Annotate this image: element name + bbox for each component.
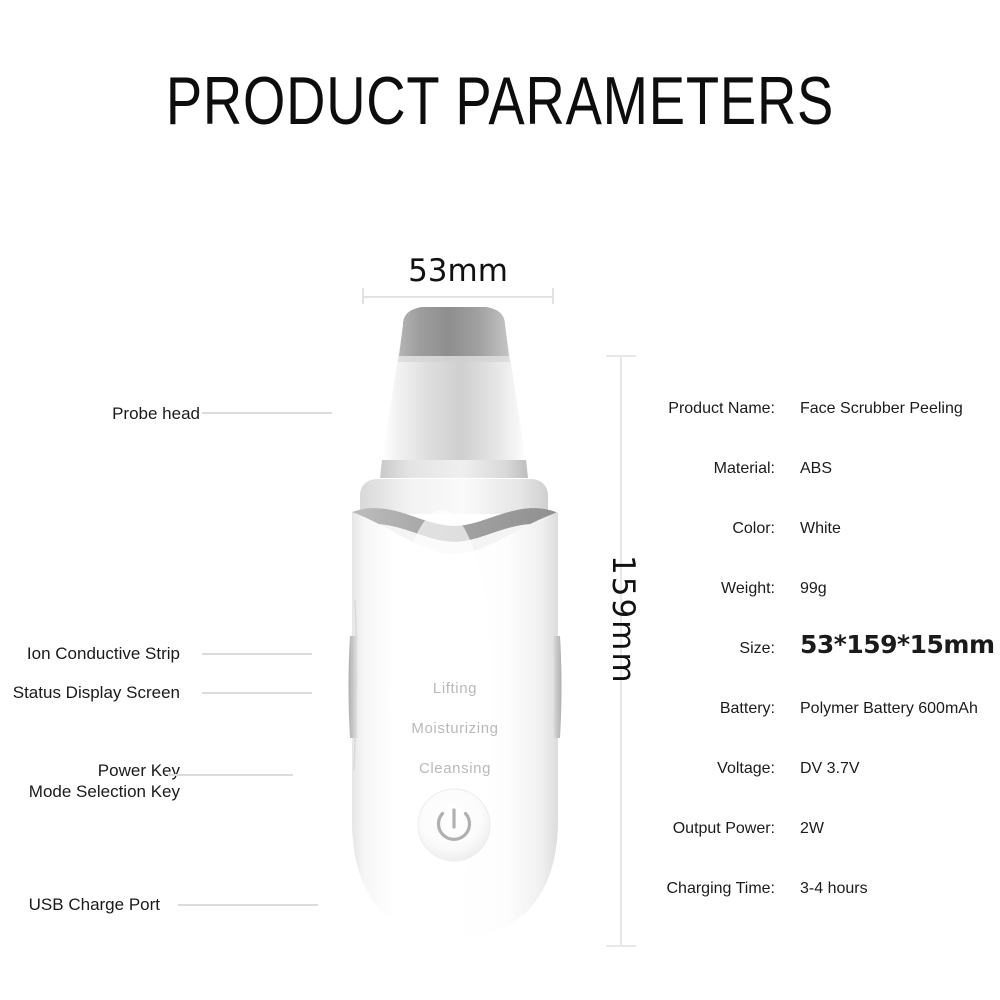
spec-value-battery: Polymer Battery 600mAh xyxy=(800,698,978,720)
spec-table: Product Name: Face Scrubber Peeling Mate… xyxy=(620,398,1000,938)
callout-ion-conductive-strip-label: Ion Conductive Strip xyxy=(27,643,180,665)
spec-label-material: Material: xyxy=(620,458,775,480)
callout-status-display-screen-line xyxy=(202,692,312,694)
spec-value-material: ABS xyxy=(800,458,832,480)
callout-ion-conductive-strip: Ion Conductive Strip xyxy=(0,643,180,665)
spec-row-output-power: Output Power: 2W xyxy=(620,818,1000,878)
callout-power-mode-block: Power Key Mode Selection Key xyxy=(29,760,180,802)
spec-row-size: Size: 53*159*15mm xyxy=(620,638,1000,698)
spec-value-voltage: DV 3.7V xyxy=(800,758,860,780)
page-title: PRODUCT PARAMETERS xyxy=(100,62,900,140)
spec-label-output-power: Output Power: xyxy=(620,818,775,840)
spec-row-voltage: Voltage: DV 3.7V xyxy=(620,758,1000,818)
device-illustration: Lifting Moisturizing Cleansing xyxy=(330,300,580,960)
callout-power-and-mode-key: Power Key Mode Selection Key xyxy=(0,760,180,802)
spec-value-charging-time: 3-4 hours xyxy=(800,878,868,900)
spec-label-color: Color: xyxy=(620,518,775,540)
spec-label-battery: Battery: xyxy=(620,698,775,720)
spec-row-weight: Weight: 99g xyxy=(620,578,1000,638)
width-dimension-label: 53mm xyxy=(362,254,554,288)
spec-label-product-name: Product Name: xyxy=(620,398,775,420)
height-dimension-tick-top xyxy=(606,355,636,357)
callout-power-and-mode-key-line xyxy=(168,774,293,776)
spec-value-product-name: Face Scrubber Peeling xyxy=(800,398,963,420)
spec-label-weight: Weight: xyxy=(620,578,775,600)
spec-row-product-name: Product Name: Face Scrubber Peeling xyxy=(620,398,1000,458)
height-dimension-tick-bottom xyxy=(606,945,636,947)
spec-label-charging-time: Charging Time: xyxy=(620,878,775,900)
spec-row-color: Color: White xyxy=(620,518,1000,578)
mode-label-lifting: Lifting xyxy=(330,680,580,698)
device-neck xyxy=(380,460,528,478)
mode-label-cleansing: Cleansing xyxy=(330,760,580,778)
callout-status-display-screen-label: Status Display Screen xyxy=(13,682,180,704)
spec-row-material: Material: ABS xyxy=(620,458,1000,518)
callout-ion-conductive-strip-line xyxy=(202,653,312,655)
callout-usb-charge-port: USB Charge Port xyxy=(0,894,160,916)
width-dimension: 53mm xyxy=(362,258,554,304)
callout-power-key-label: Power Key xyxy=(29,760,180,781)
callout-status-display-screen: Status Display Screen xyxy=(0,682,180,704)
callout-probe-head-label: Probe head xyxy=(112,403,200,425)
spec-label-size: Size: xyxy=(620,638,775,660)
product-parameters-page: PRODUCT PARAMETERS 53mm 159mm xyxy=(0,0,1000,1000)
callout-probe-head-line xyxy=(202,412,332,414)
power-button[interactable] xyxy=(418,789,490,861)
spec-row-battery: Battery: Polymer Battery 600mAh xyxy=(620,698,1000,758)
probe-head-shape xyxy=(382,307,526,472)
spec-value-size: 53*159*15mm xyxy=(800,634,995,656)
mode-label-moisturizing: Moisturizing xyxy=(330,720,580,738)
spec-value-output-power: 2W xyxy=(800,818,824,840)
spec-label-voltage: Voltage: xyxy=(620,758,775,780)
callout-usb-charge-port-line xyxy=(178,904,318,906)
callout-usb-charge-port-label: USB Charge Port xyxy=(29,894,160,916)
width-dimension-bar xyxy=(362,296,554,298)
callout-mode-selection-key-label: Mode Selection Key xyxy=(29,781,180,802)
callout-probe-head: Probe head xyxy=(60,403,200,425)
spec-value-color: White xyxy=(800,518,841,540)
spec-row-charging-time: Charging Time: 3-4 hours xyxy=(620,878,1000,938)
spec-value-weight: 99g xyxy=(800,578,827,600)
